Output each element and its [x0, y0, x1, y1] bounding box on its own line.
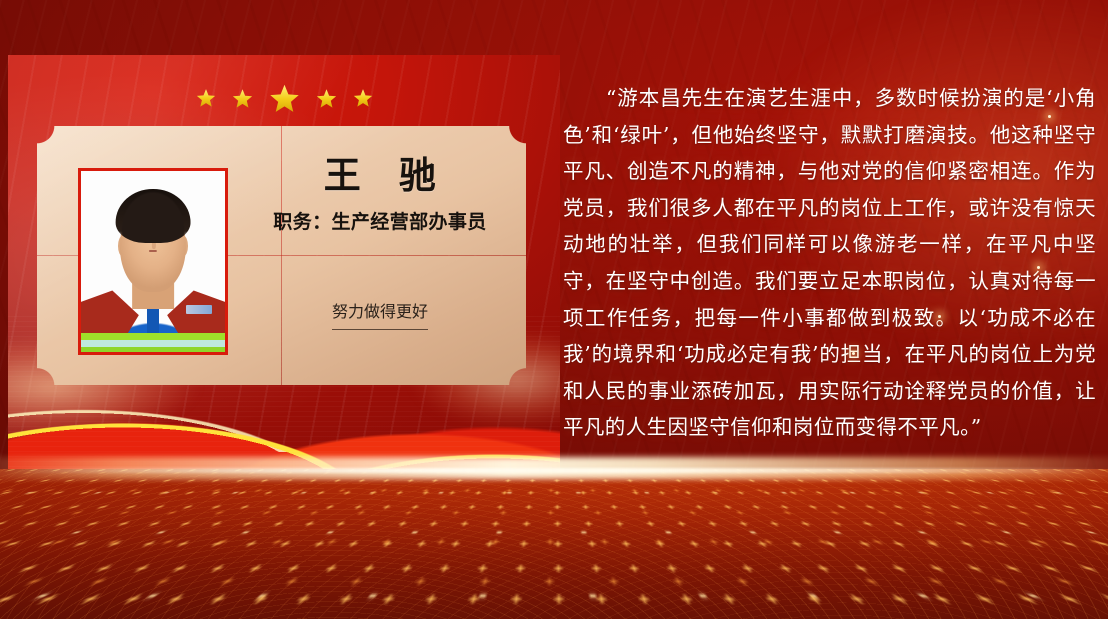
star-rating-row: [8, 78, 560, 118]
reflective-stripe-green: [78, 333, 228, 340]
slide-canvas: 王 驰 职务：生产经营部办事员 努力做得更好 “游本昌先生在演艺生涯中，多数时候…: [0, 0, 1108, 619]
person-name: 王 驰: [245, 158, 515, 195]
sparkle-icon: [938, 315, 941, 318]
reflective-stripe-silver: [78, 340, 228, 347]
star-icon: [196, 88, 216, 108]
sparkle-icon: [1037, 266, 1040, 269]
sparkle-icon: [1048, 115, 1051, 118]
horizon-light-core: [0, 468, 1108, 473]
quote-text: “游本昌先生在演艺生涯中，多数时候扮演的是‘小角色’和‘绿叶’，但他始终坚守，默…: [563, 80, 1096, 446]
uniform-logo: [186, 305, 212, 314]
star-icon: [269, 83, 300, 114]
portrait-photo: [78, 168, 228, 355]
portrait-mouth: [149, 250, 157, 252]
star-icon: [353, 88, 373, 108]
star-icon: [232, 88, 253, 109]
motto-container: 努力做得更好: [245, 302, 515, 330]
bottom-particle-field: [0, 469, 1108, 619]
star-icon: [316, 88, 337, 109]
person-role: 职务：生产经营部办事员: [245, 213, 515, 232]
person-motto: 努力做得更好: [332, 302, 428, 330]
reflective-stripe-green-lower: [78, 347, 228, 352]
quote-block: “游本昌先生在演艺生涯中，多数时候扮演的是‘小角色’和‘绿叶’，但他始终坚守，默…: [563, 80, 1096, 446]
sparkle-icon: [852, 352, 855, 355]
